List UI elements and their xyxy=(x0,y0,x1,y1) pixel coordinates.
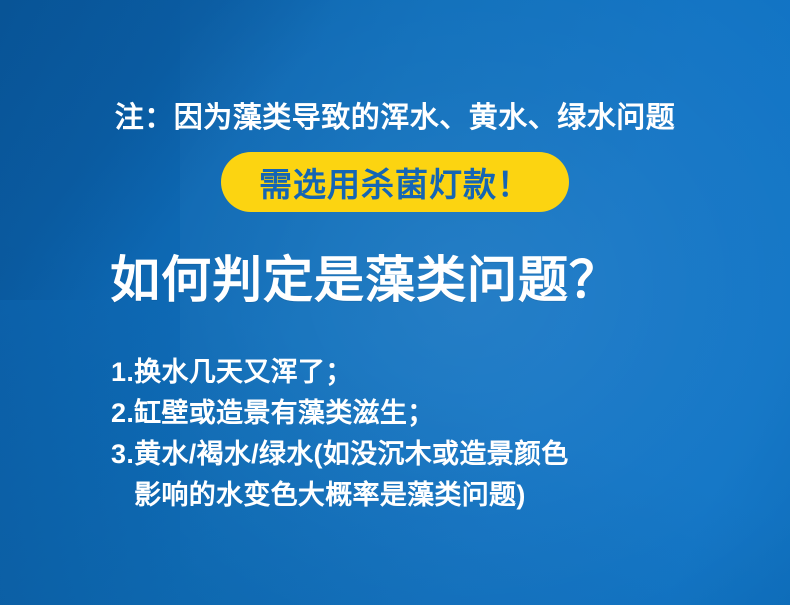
list-item-text: 黄水/褐水/绿水(如没沉木或造景颜色 影响的水变色大概率是藻类问题) xyxy=(134,434,568,516)
list-item-number: 2. xyxy=(111,393,134,434)
note-text: 注：因为藻类导致的浑水、黄水、绿水问题 xyxy=(0,101,790,136)
criteria-list: 1. 换水几天又浑了； 2. 缸壁或造景有藻类滋生； 3. 黄水/褐水/绿水(如… xyxy=(111,352,569,516)
list-item-line-1: 黄水/褐水/绿水(如没沉木或造景颜色 xyxy=(134,439,568,469)
list-item-text: 缸壁或造景有藻类滋生； xyxy=(134,393,434,434)
list-item: 1. 换水几天又浑了； xyxy=(111,352,569,393)
list-item-number: 3. xyxy=(111,434,134,475)
list-item-line-1: 缸壁或造景有藻类滋生； xyxy=(134,398,434,428)
list-item-number: 1. xyxy=(111,352,134,393)
list-item: 2. 缸壁或造景有藻类滋生； xyxy=(111,393,569,434)
list-item: 3. 黄水/褐水/绿水(如没沉木或造景颜色 影响的水变色大概率是藻类问题) xyxy=(111,434,569,516)
recommendation-badge: 需选用杀菌灯款！ xyxy=(221,152,569,212)
list-item-line-2: 影响的水变色大概率是藻类问题) xyxy=(134,475,568,516)
badge-row: 需选用杀菌灯款！ xyxy=(0,152,790,212)
list-item-line-1: 换水几天又浑了； xyxy=(134,357,352,387)
promo-poster: 注：因为藻类导致的浑水、黄水、绿水问题 需选用杀菌灯款！ 如何判定是藻类问题？ … xyxy=(0,0,790,605)
list-item-text: 换水几天又浑了； xyxy=(134,352,352,393)
page-title: 如何判定是藻类问题？ xyxy=(110,252,620,310)
poster-content: 注：因为藻类导致的浑水、黄水、绿水问题 需选用杀菌灯款！ 如何判定是藻类问题？ … xyxy=(0,0,790,605)
